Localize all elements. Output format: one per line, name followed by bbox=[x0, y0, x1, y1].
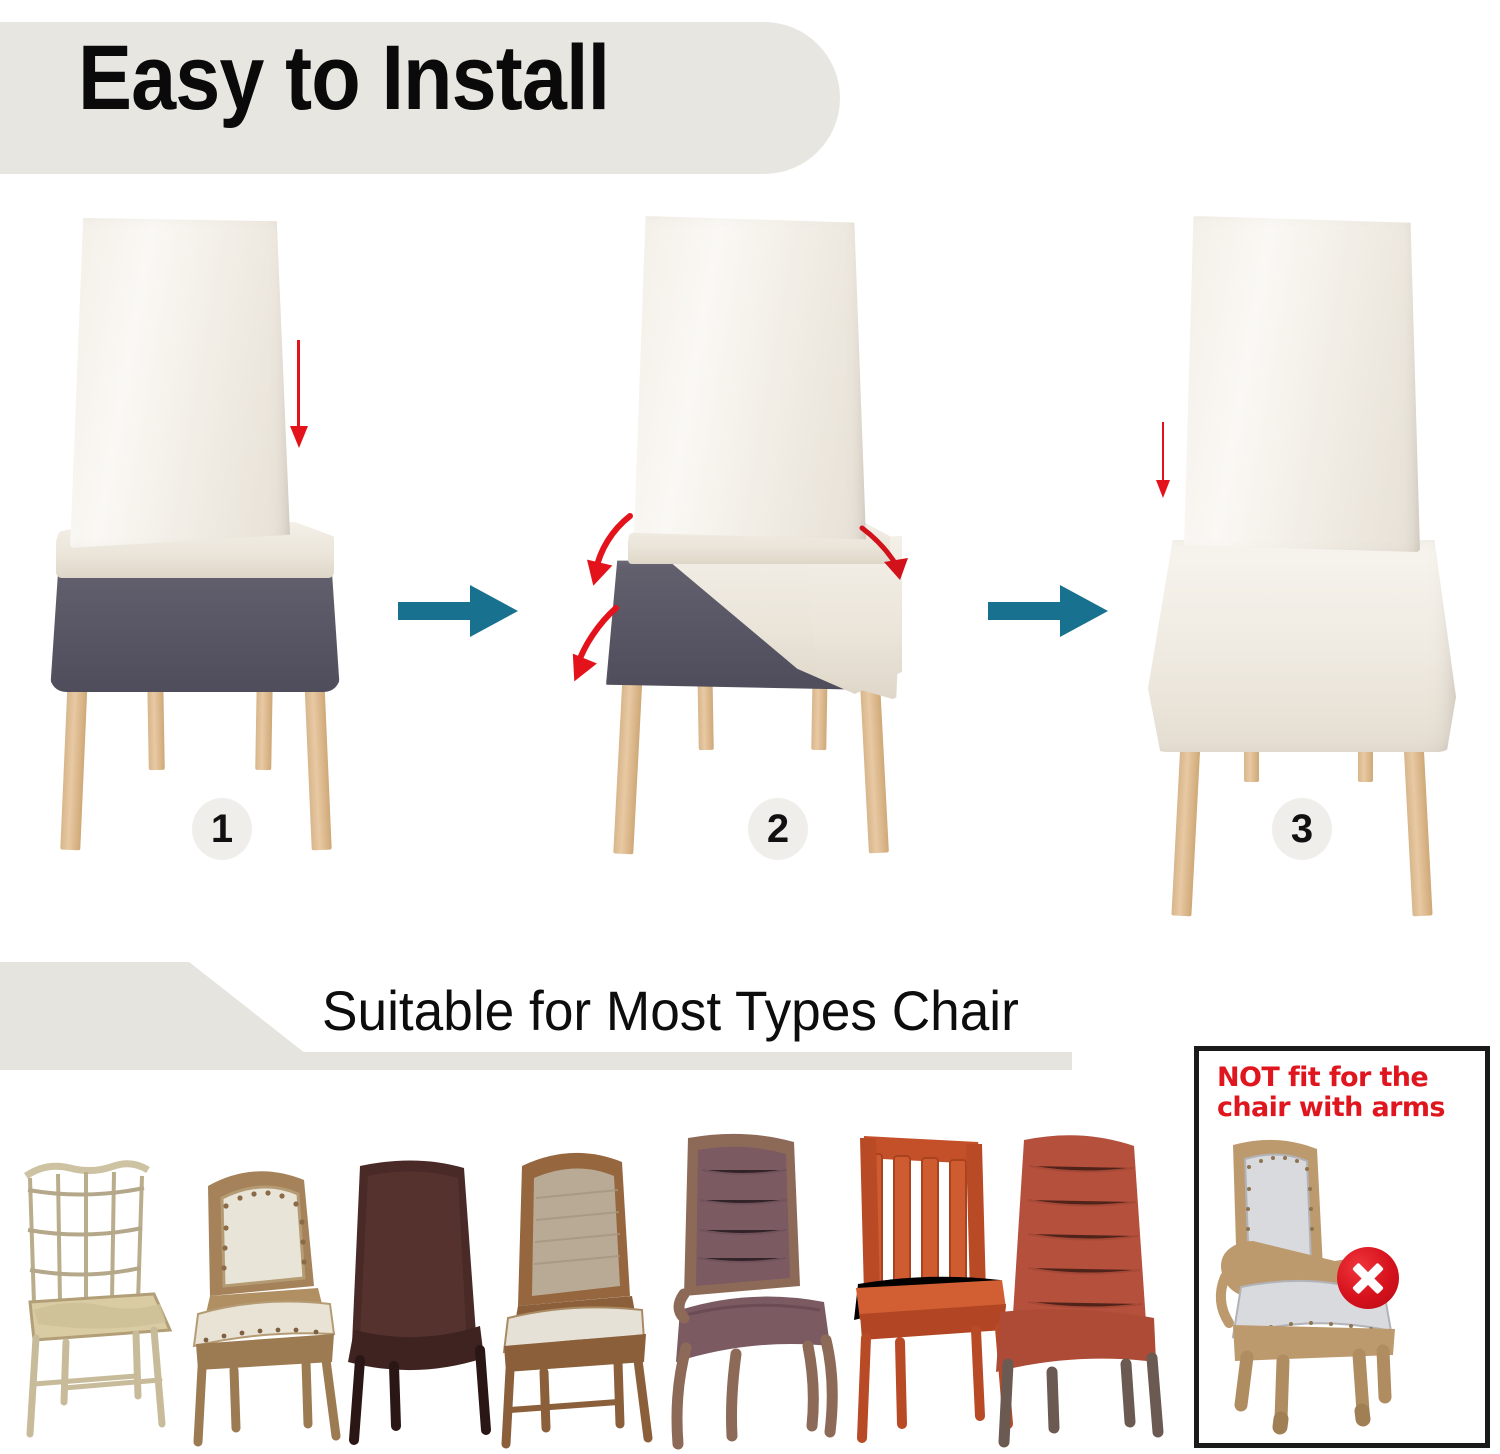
banner-underline bbox=[0, 1052, 1072, 1070]
gallery-chair-wood-frame-woven-back-chair bbox=[478, 1128, 663, 1454]
install-step-1: 1 bbox=[40, 210, 400, 930]
chair-leg bbox=[613, 672, 642, 855]
gallery-chair-rust-upholstered-chair bbox=[980, 1126, 1170, 1454]
warning-message: NOT fit for the chair with arms bbox=[1217, 1063, 1483, 1123]
banner-shape bbox=[0, 962, 310, 1057]
step-number-badge: 3 bbox=[1272, 798, 1332, 860]
chair-leg bbox=[1403, 740, 1432, 917]
chair-back-cover bbox=[70, 218, 290, 548]
chair-leg bbox=[304, 678, 331, 851]
chair-covered-seat bbox=[1148, 540, 1456, 752]
step-number-badge: 1 bbox=[192, 798, 252, 860]
step-number-badge: 2 bbox=[748, 798, 808, 860]
curved-arrow-right-icon bbox=[852, 510, 942, 620]
compatible-chairs-gallery bbox=[0, 1110, 1180, 1454]
down-arrow-icon bbox=[290, 340, 308, 450]
gallery-chair-ornate-gold-spindle-chair bbox=[4, 1134, 184, 1454]
gallery-chair-nailhead-upholstered-chair bbox=[168, 1136, 348, 1454]
gallery-chair-mauve-banquet-chair bbox=[640, 1124, 840, 1454]
not-allowed-x-icon bbox=[1337, 1247, 1399, 1309]
down-arrow-icon bbox=[1154, 422, 1172, 502]
chair-leg bbox=[1171, 740, 1200, 917]
chair-back-cover bbox=[1184, 216, 1420, 552]
next-step-arrow-icon bbox=[398, 585, 518, 637]
page-title: Easy to Install bbox=[78, 32, 609, 124]
chair-leg bbox=[60, 678, 87, 851]
suitable-section-title: Suitable for Most Types Chair bbox=[322, 978, 1019, 1043]
chair-back-cover bbox=[634, 216, 866, 546]
next-step-arrow-icon bbox=[988, 585, 1108, 637]
not-fit-warning-box: NOT fit for the chair with arms bbox=[1194, 1046, 1490, 1448]
install-step-2: 2 bbox=[580, 210, 940, 930]
gallery-chair-dark-brown-leather-chair bbox=[324, 1144, 504, 1454]
install-steps-section: 1 bbox=[0, 210, 1500, 930]
install-step-3: 3 bbox=[1120, 210, 1480, 930]
curved-arrows-icon bbox=[572, 500, 722, 690]
chair-seat-cushion bbox=[50, 562, 340, 692]
